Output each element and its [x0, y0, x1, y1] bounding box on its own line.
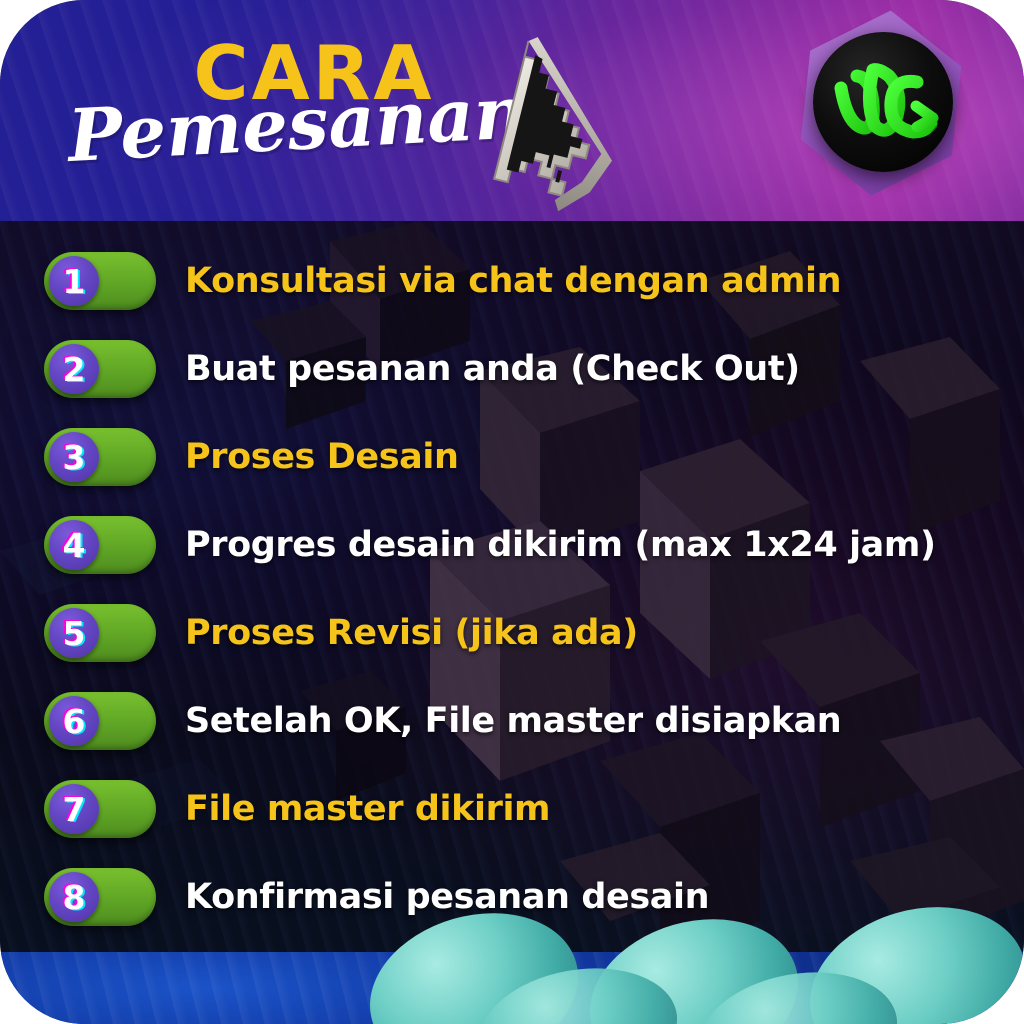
step-badge-disc: 5	[49, 608, 99, 658]
step-label: Buat pesanan anda (Check Out)	[185, 352, 800, 387]
step-badge-disc: 6	[49, 696, 99, 746]
step-number: 2	[63, 353, 86, 386]
step-row[interactable]: 1 Konsultasi via chat dengan admin	[44, 250, 1004, 312]
step-badge: 8	[44, 868, 156, 926]
step-number: 6	[63, 705, 86, 738]
step-badge: 5	[44, 604, 156, 662]
logo-disc	[813, 32, 953, 172]
step-badge-disc: 8	[49, 872, 99, 922]
step-badge-disc: 2	[49, 344, 99, 394]
step-row[interactable]: 7 File master dikirim	[44, 778, 1004, 840]
step-badge: 4	[44, 516, 156, 574]
step-badge-disc: 1	[49, 256, 99, 306]
step-label: Proses Revisi (jika ada)	[185, 616, 638, 651]
brand-logo	[797, 8, 973, 214]
poster-footer	[0, 952, 1024, 1024]
step-badge-disc: 4	[49, 520, 99, 570]
step-row[interactable]: 2 Buat pesanan anda (Check Out)	[44, 338, 1004, 400]
title-line-pemesanan: Pemesanan	[60, 76, 533, 172]
step-badge: 3	[44, 428, 156, 486]
step-number: 4	[63, 529, 86, 562]
steps-list: 1 Konsultasi via chat dengan admin 2 Bua…	[0, 221, 1024, 958]
step-row[interactable]: 5 Proses Revisi (jika ada)	[44, 602, 1004, 664]
step-number: 5	[63, 617, 86, 650]
step-badge: 2	[44, 340, 156, 398]
step-label: Setelah OK, File master disiapkan	[185, 704, 841, 739]
step-number: 3	[63, 441, 86, 474]
vdc-monogram-icon	[813, 32, 953, 172]
step-row[interactable]: 3 Proses Desain	[44, 426, 1004, 488]
promo-poster: CARA Pemesanan	[0, 0, 1024, 1024]
step-label: Konfirmasi pesanan desain	[185, 880, 709, 915]
step-badge: 7	[44, 780, 156, 838]
footer-stripe-texture	[0, 952, 1024, 1024]
step-badge-disc: 3	[49, 432, 99, 482]
step-number: 8	[63, 881, 86, 914]
step-number: 1	[63, 265, 86, 298]
step-badge: 1	[44, 252, 156, 310]
step-badge-disc: 7	[49, 784, 99, 834]
step-label: Proses Desain	[185, 440, 459, 475]
step-row[interactable]: 8 Konfirmasi pesanan desain	[44, 866, 1004, 928]
step-label: File master dikirim	[185, 792, 550, 827]
poster-header: CARA Pemesanan	[0, 0, 1024, 221]
step-label: Konsultasi via chat dengan admin	[185, 264, 841, 299]
step-label: Progres desain dikirim (max 1x24 jam)	[185, 528, 936, 563]
step-number: 7	[63, 793, 86, 826]
step-row[interactable]: 6 Setelah OK, File master disiapkan	[44, 690, 1004, 752]
poster-title-block: CARA Pemesanan	[62, 36, 532, 196]
step-badge: 6	[44, 692, 156, 750]
step-row[interactable]: 4 Progres desain dikirim (max 1x24 jam)	[44, 514, 1004, 576]
